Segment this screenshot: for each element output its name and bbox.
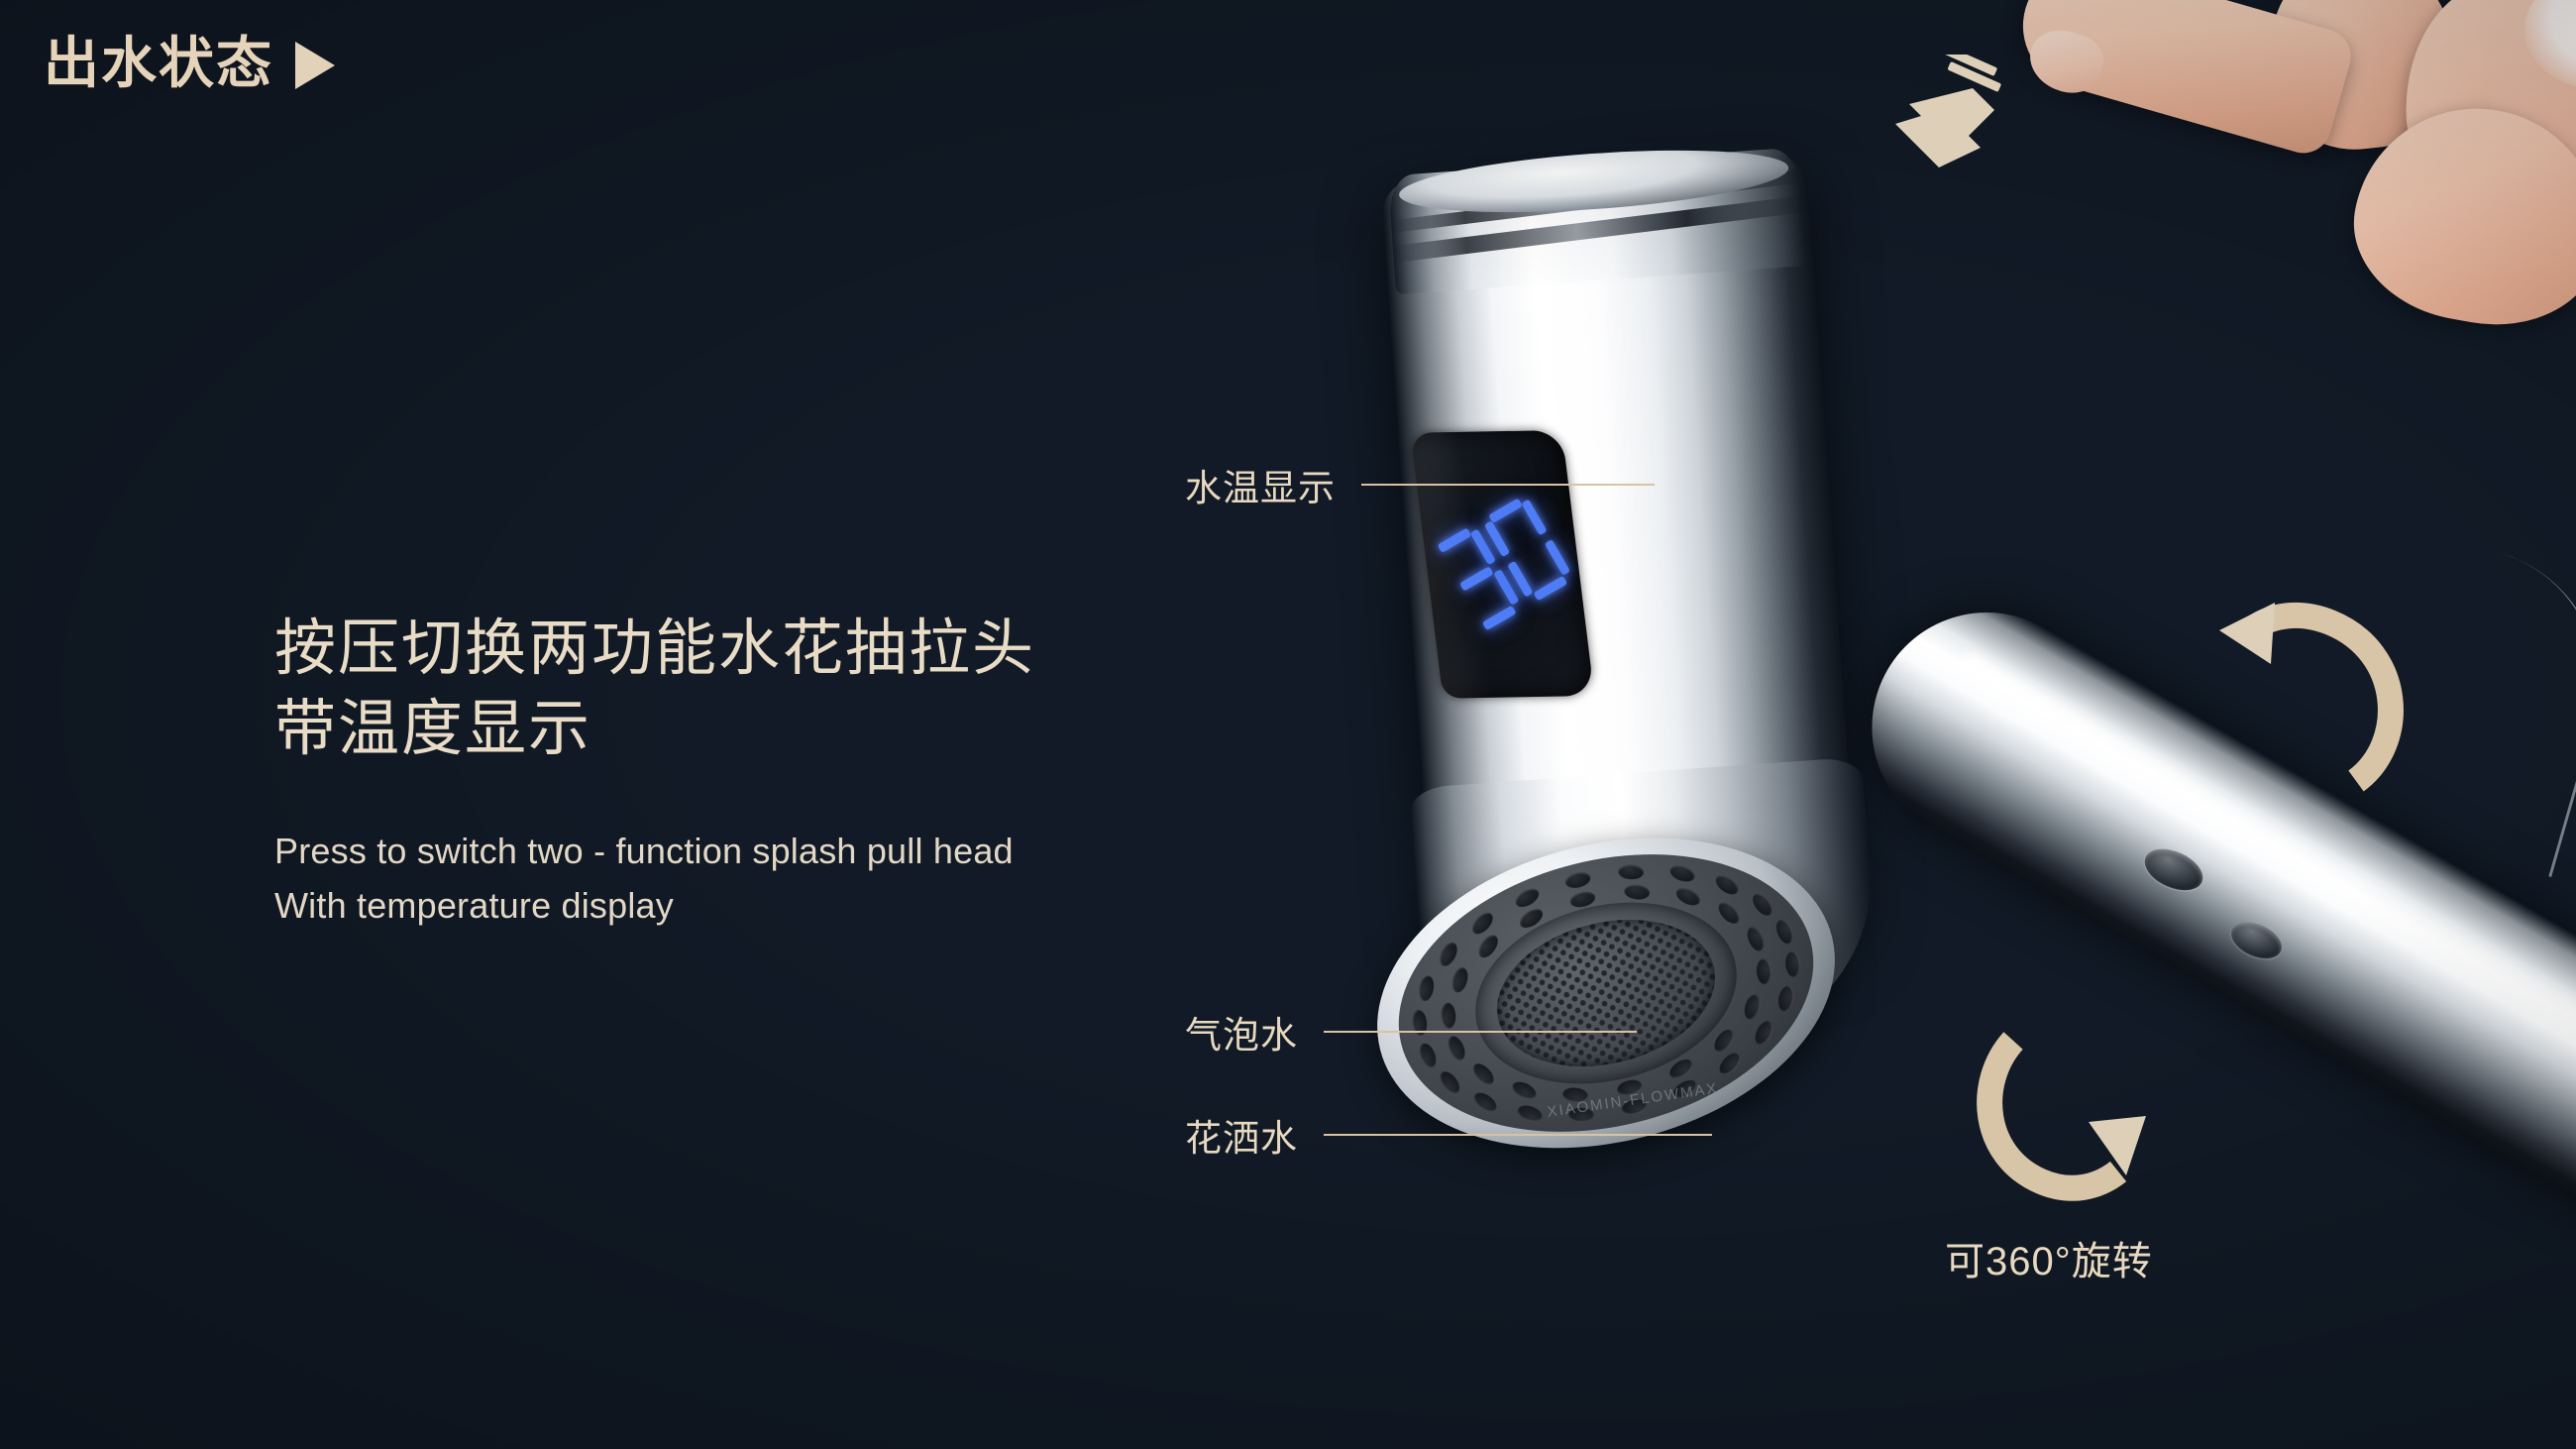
rotate-arrow-counterclockwise-icon	[2209, 595, 2427, 793]
leader-line	[1361, 484, 1655, 486]
subcopy-block: Press to switch two - function splash pu…	[274, 825, 1166, 933]
arm-dimple	[2225, 915, 2287, 965]
headline-line-1: 按压切换两功能水花抽拉头	[274, 610, 1166, 690]
arm-dimple	[2138, 840, 2208, 898]
shower-jet	[1673, 884, 1703, 909]
slide-header: 出水状态	[44, 36, 335, 91]
shower-jet	[1749, 890, 1776, 920]
temperature-digits	[1430, 494, 1575, 634]
shower-jet	[1437, 1067, 1464, 1097]
feature-copy-block: 按压切换两功能水花抽拉头 带温度显示 Press to switch two -…	[274, 610, 1166, 934]
shower-jet	[1712, 871, 1742, 898]
shower-jet	[1715, 898, 1744, 927]
page-title: 出水状态	[44, 36, 273, 91]
hand-illustration	[2237, 0, 2576, 357]
play-triangle-icon	[295, 42, 335, 89]
shower-jet	[1756, 958, 1772, 985]
shower-jet	[1742, 993, 1764, 1022]
callout-label: 花洒水	[1185, 1108, 1298, 1162]
subcopy-line-2: With temperature display	[274, 879, 1166, 934]
callout-label: 气泡水	[1185, 1005, 1298, 1059]
shower-jet	[1744, 924, 1768, 953]
product-feature-slide: 出水状态	[0, 0, 2576, 1449]
shower-jet	[1618, 864, 1645, 880]
shower-jet	[1509, 1078, 1539, 1103]
callout-bubble-water: 气泡水	[1185, 1005, 1637, 1059]
press-down-arrow-icon	[1878, 55, 2016, 183]
rotation-caption: 可360°旋转	[1945, 1229, 2153, 1286]
shower-jet	[1711, 1026, 1738, 1056]
shower-jet	[1773, 917, 1797, 947]
shower-jet	[1417, 974, 1437, 1002]
leader-line	[1324, 1134, 1712, 1136]
callout-shower-water: 花洒水	[1185, 1108, 1712, 1162]
shower-jet	[1436, 940, 1460, 969]
callout-temperature-display: 水温显示	[1185, 458, 1655, 511]
subcopy-line-1: Press to switch two - function splash pu…	[274, 825, 1166, 879]
shower-jet	[1784, 950, 1802, 977]
shower-jet	[1468, 909, 1497, 938]
leader-line	[1324, 1031, 1637, 1033]
shower-jet	[1512, 885, 1542, 911]
shower-jet	[1776, 985, 1796, 1013]
shower-jet	[1468, 1059, 1497, 1088]
headline-line-2: 带温度显示	[274, 690, 1166, 770]
shower-jet	[1715, 1050, 1744, 1078]
shower-jet	[1752, 1018, 1776, 1048]
rotate-arrow-clockwise-icon	[1972, 1031, 2190, 1214]
shower-jet	[1449, 965, 1470, 994]
callout-label: 水温显示	[1185, 458, 1336, 511]
shower-jet	[1563, 870, 1592, 891]
shower-jet	[1624, 883, 1651, 901]
shower-jet	[1667, 862, 1696, 885]
